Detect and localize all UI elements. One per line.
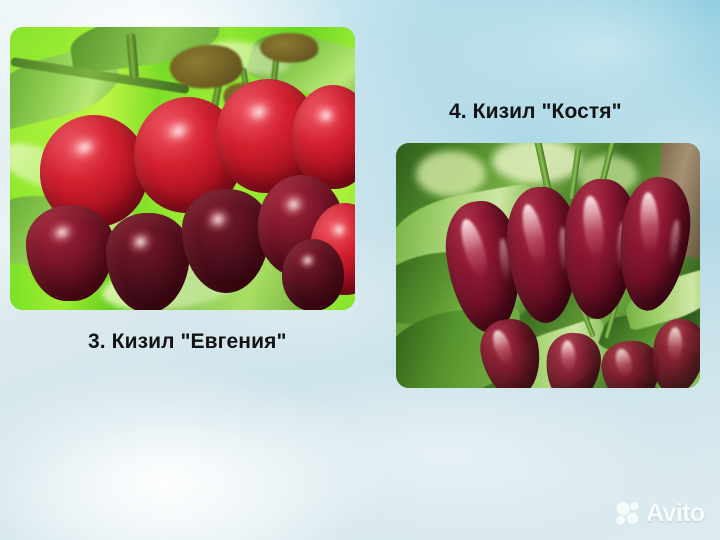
photo-evgeniya[interactable] xyxy=(10,27,355,310)
avito-watermark: Avito xyxy=(615,500,705,526)
fruit-highlight xyxy=(580,195,606,261)
fruit-highlight xyxy=(668,219,682,265)
fruit-highlight xyxy=(560,340,576,373)
fruit-highlight xyxy=(639,192,660,254)
fruit-highlight xyxy=(518,203,550,268)
caption-photo-kostya: 4. Кизил "Костя" xyxy=(449,100,622,124)
caption-photo-evgeniya: 3. Кизил "Евгения" xyxy=(88,330,287,354)
fruit-highlight xyxy=(489,328,515,367)
background-haze-bottom-left xyxy=(0,367,389,540)
fruit-cherry xyxy=(282,239,344,310)
fruit-highlight xyxy=(613,348,635,379)
avito-wordmark: Avito xyxy=(646,501,705,526)
photo-kostya[interactable] xyxy=(396,143,700,388)
avito-dots-logo-icon xyxy=(615,500,641,526)
background-bokeh xyxy=(416,151,486,197)
fruit-highlight xyxy=(668,327,682,362)
slide-canvas: 3. Кизил "Евгения" xyxy=(0,0,720,540)
fruit-highlight xyxy=(456,217,492,281)
